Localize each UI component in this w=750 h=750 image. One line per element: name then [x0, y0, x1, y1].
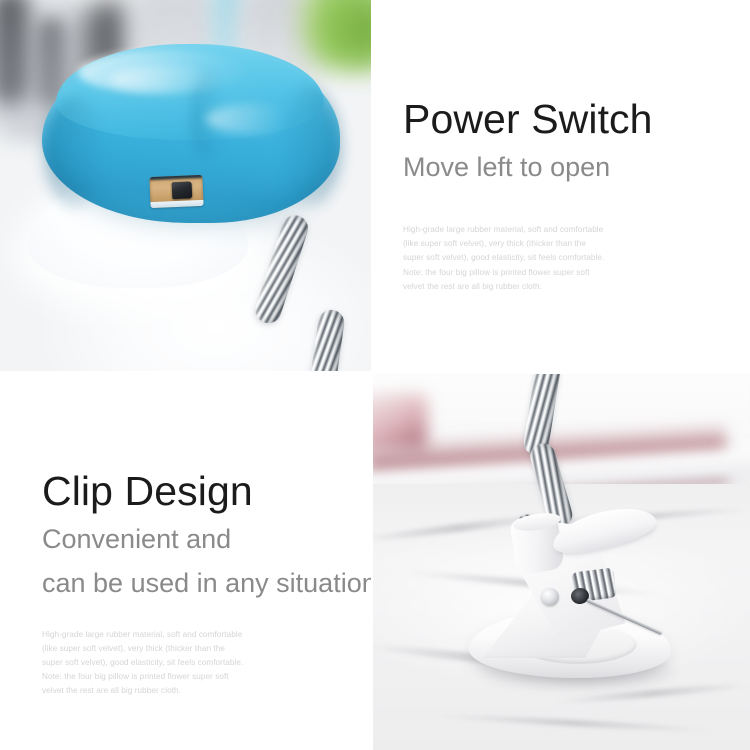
- photo-clip: [373, 374, 750, 750]
- description-line: velvet the rest are all big rubber cloth…: [403, 280, 723, 294]
- shell-highlight: [206, 104, 302, 134]
- photo-power-switch: [0, 0, 371, 371]
- subtitle-line-2: can be used in any situation: [42, 566, 362, 602]
- shell-shading: [280, 86, 342, 206]
- description-line: (like super soft velvet), very thick (th…: [42, 642, 362, 656]
- description-line: High-grade large rubber material, soft a…: [403, 223, 723, 237]
- clip-pivot-pin: [541, 588, 559, 606]
- description-line: (like super soft velvet), very thick (th…: [403, 237, 723, 251]
- subtitle-line-1: Convenient and: [42, 524, 231, 554]
- power-switch-subtitle: Move left to open: [403, 150, 723, 186]
- gooseneck-segment: [308, 308, 346, 371]
- text-power-switch: Power Switch Move left to open High-grad…: [375, 0, 750, 371]
- shell-highlight: [110, 66, 220, 92]
- shell-shading: [44, 96, 106, 208]
- page-title: Power Switch: [403, 98, 723, 141]
- background-bokeh-shape: [0, 0, 30, 106]
- switch-slider-knob[interactable]: [172, 181, 193, 199]
- text-clip-design: Clip Design Convenient and can be used i…: [0, 375, 371, 750]
- description-line: super soft velvet), good elasticity, sit…: [42, 656, 362, 670]
- clip-photo: [373, 374, 750, 750]
- clip-design-subtitle: Convenient and can be used in any situat…: [42, 522, 362, 602]
- lamp-head-photo: [0, 0, 371, 371]
- description-line: Note: the four big pillow is printed flo…: [42, 670, 362, 684]
- description-line: Note: the four big pillow is printed flo…: [403, 266, 723, 280]
- clip-design-text-block: Clip Design Convenient and can be used i…: [42, 470, 362, 698]
- description-line: velvet the rest are all big rubber cloth…: [42, 684, 362, 698]
- description-line: High-grade large rubber material, soft a…: [42, 628, 362, 642]
- marble-vein: [433, 713, 713, 734]
- power-switch-text-block: Power Switch Move left to open High-grad…: [403, 98, 723, 294]
- product-feature-collage: Power Switch Move left to open High-grad…: [0, 0, 750, 750]
- clip-design-description: High-grade large rubber material, soft a…: [42, 628, 362, 699]
- description-line: super soft velvet), good elasticity, sit…: [403, 251, 723, 265]
- section-title: Clip Design: [42, 470, 362, 513]
- power-switch[interactable]: [149, 175, 203, 208]
- gooseneck-segment: [252, 212, 311, 327]
- power-switch-description: High-grade large rubber material, soft a…: [403, 223, 723, 294]
